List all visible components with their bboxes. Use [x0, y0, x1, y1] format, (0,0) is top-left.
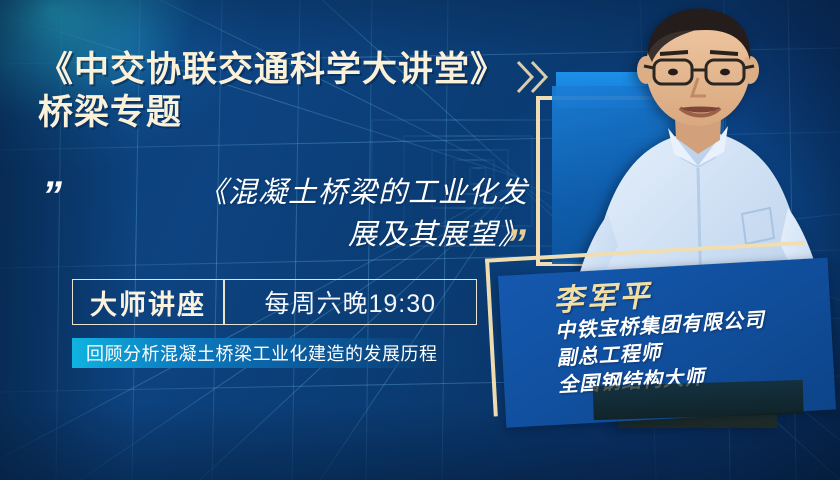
speaker-card: 李军平 中铁宝桥集团有限公司 副总工程师 全国钢结构大师	[498, 258, 836, 428]
open-quote-icon: ”	[42, 176, 60, 216]
poster-canvas: 《中交协联交通科学大讲堂》 桥梁专题 ” 《混凝土桥梁的工业化发 展及其展望》 …	[0, 0, 840, 480]
subtitle-text: 《混凝土桥梁的工业化发 展及其展望》	[88, 172, 528, 256]
subtitle-line-2: 展及其展望》	[88, 214, 528, 256]
speaker-card-shadow-overlap	[593, 380, 804, 420]
schedule-time: 每周六晚19:30	[225, 284, 477, 320]
tagline-text: 回顾分析混凝土桥梁工业化建造的发展历程	[72, 340, 438, 366]
subtitle-line-1: 《混凝土桥梁的工业化发	[88, 172, 528, 214]
schedule-box: 大师讲座 每周六晚19:30	[72, 279, 477, 325]
title-line-1: 《中交协联交通科学大讲堂》	[38, 48, 538, 91]
schedule-label: 大师讲座	[73, 283, 223, 322]
poster-subtitle: ” 《混凝土桥梁的工业化发 展及其展望》 ”	[36, 172, 536, 268]
poster-title: 《中交协联交通科学大讲堂》 桥梁专题	[38, 48, 538, 134]
title-line-2: 桥梁专题	[38, 91, 538, 134]
tagline-bar: 回顾分析混凝土桥梁工业化建造的发展历程	[72, 338, 478, 368]
